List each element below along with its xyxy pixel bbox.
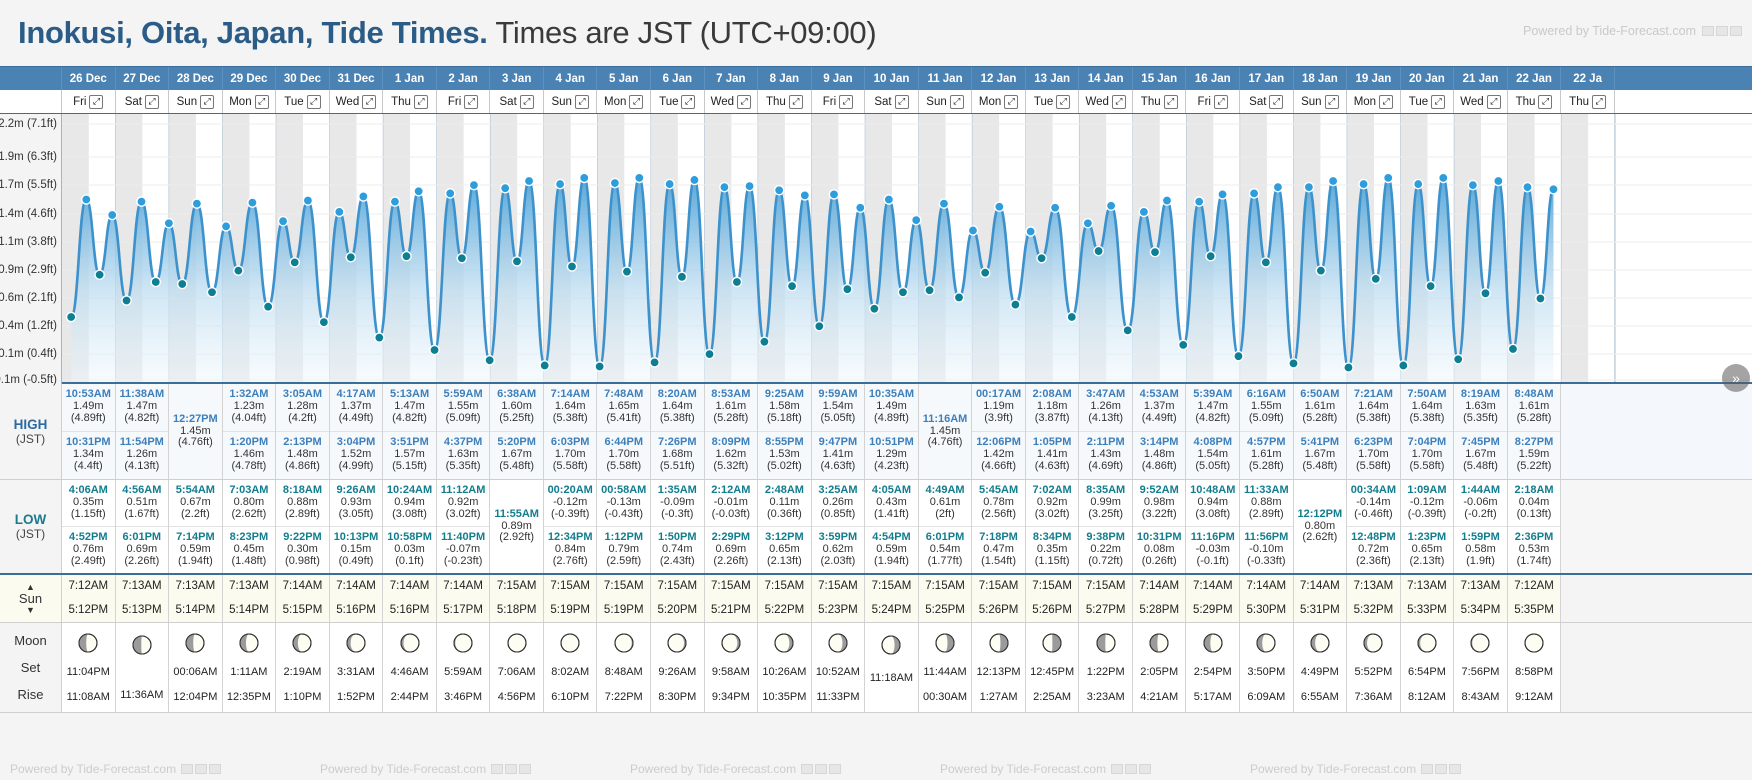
sunset-entry: 5:24PM [865, 599, 918, 623]
dow-label: Sun [177, 96, 197, 108]
date-header-cell[interactable]: 4 Jan [544, 67, 598, 90]
sun-cell[interactable]: 7:15AM5:24PM [865, 575, 919, 622]
expand-icon[interactable]: ⤢ [1325, 95, 1339, 109]
dow-header-cell[interactable]: Sat⤢ [490, 90, 544, 113]
dow-header-cell[interactable]: Sun⤢ [1294, 90, 1348, 113]
tide-height-ft: (1.67ft) [124, 509, 159, 521]
sun-cell[interactable]: 7:15AM5:23PM [812, 575, 866, 622]
sunset-entry: 5:14PM [169, 599, 222, 623]
date-header-cell[interactable]: 21 Jan [1454, 67, 1508, 90]
date-header-cell[interactable]: 6 Jan [651, 67, 705, 90]
tide-height-ft: (2.36ft) [1356, 556, 1391, 568]
dow-header-cell[interactable]: Tue⤢ [1026, 90, 1080, 113]
moon-phase-icon [1362, 632, 1384, 654]
expand-icon[interactable]: ⤢ [1269, 95, 1283, 109]
high-tide-entry: 7:48AM1.65m(5.41ft) [597, 384, 650, 432]
low-tide-cell[interactable]: 5:54AM0.67m(2.2ft)7:14PM0.59m(1.94ft) [169, 480, 223, 573]
sun-label: ▲ Sun ▼ [0, 575, 62, 622]
sun-cell[interactable]: 7:15AM5:27PM [1079, 575, 1133, 622]
low-tide-cell[interactable]: 9:52AM0.98m(3.22ft)10:31PM0.08m(0.26ft) [1133, 480, 1187, 573]
low-tide-cell[interactable]: 11:33AM0.88m(2.89ft)11:56PM-0.10m(-0.33f… [1240, 480, 1294, 573]
sun-cell[interactable]: 7:15AM5:26PM [972, 575, 1026, 622]
dow-header-cell[interactable]: Thu⤢ [1561, 90, 1615, 113]
sunset-entry: 5:13PM [116, 599, 169, 623]
low-tide-entry: 3:59PM0.62m(2.03ft) [812, 527, 865, 574]
sunrise-entry: 7:12AM [62, 575, 115, 599]
dow-header-cell[interactable]: Tue⤢ [1401, 90, 1455, 113]
dow-header-cell[interactable]: Thu⤢ [1508, 90, 1562, 113]
high-tide-entry: 4:37PM1.63m(5.35ft) [437, 432, 490, 480]
date-header-cell[interactable]: 22 Ja [1561, 67, 1615, 90]
moonrise-time: 4:56PM [498, 691, 536, 703]
low-tide-entry: 3:25AM0.26m(0.85ft) [812, 480, 865, 527]
moon-cell[interactable]: 10:26AM10:35PM [758, 623, 812, 712]
sun-cell[interactable]: 7:15AM5:22PM [758, 575, 812, 622]
tide-height-ft: (3.08ft) [1195, 509, 1230, 521]
sunset-entry: 5:19PM [544, 599, 597, 623]
moon-cell[interactable]: 8:58PM9:12AM [1508, 623, 1562, 712]
dow-header-cell[interactable]: Thu⤢ [1133, 90, 1187, 113]
low-tide-cell[interactable]: 1:35AM-0.09m(-0.3ft)1:50PM0.74m(2.43ft) [651, 480, 705, 573]
sun-cell[interactable]: 7:14AM5:31PM [1294, 575, 1348, 622]
date-header-cell[interactable]: 16 Jan [1186, 67, 1240, 90]
high-tide-cell[interactable]: 4:17AM1.37m(4.49ft)3:04PM1.52m(4.99ft) [330, 384, 384, 479]
dow-label: Thu [1141, 96, 1161, 108]
date-header-cell[interactable]: 30 Dec [276, 67, 330, 90]
high-tide-cell[interactable]: 9:25AM1.58m(5.18ft)8:55PM1.53m(5.02ft) [758, 384, 812, 479]
tide-height-ft: (3.08ft) [392, 509, 427, 521]
high-tide-cell[interactable]: 8:48AM1.61m(5.28ft)8:27PM1.59m(5.22ft) [1508, 384, 1562, 479]
sun-cell[interactable]: 7:15AM5:18PM [490, 575, 544, 622]
high-tide-cell[interactable]: 12:27PM1.45m(4.76ft) [169, 384, 223, 479]
sun-cell[interactable]: 7:14AM5:28PM [1133, 575, 1187, 622]
dow-header-cell[interactable]: Mon⤢ [597, 90, 651, 113]
date-header-cell[interactable]: 18 Jan [1294, 67, 1348, 90]
high-tide-cell[interactable]: 2:08AM1.18m(3.87ft)1:05PM1.41m(4.63ft) [1026, 384, 1080, 479]
low-tide-cell[interactable]: 10:24AM0.94m(3.08ft)10:58PM0.03m(0.1ft) [383, 480, 437, 573]
date-header-cell[interactable]: 29 Dec [223, 67, 277, 90]
high-tide-cell[interactable]: 8:20AM1.64m(5.38ft)7:26PM1.68m(5.51ft) [651, 384, 705, 479]
expand-icon[interactable]: ⤢ [520, 95, 534, 109]
low-tide-entry: 1:09AM-0.12m(-0.39ft) [1401, 480, 1454, 527]
dow-header-cell[interactable]: Fri⤢ [812, 90, 866, 113]
tide-height-ft: (1.94ft) [178, 556, 213, 568]
sunset-time: 5:21PM [711, 604, 751, 617]
tide-height-m: 0.45m [234, 544, 265, 556]
moonset-time: 2:54PM [1194, 666, 1232, 678]
date-header-cell[interactable]: 1 Jan [383, 67, 437, 90]
moon-cell[interactable]: 7:56PM8:43AM [1454, 623, 1508, 712]
sun-cell[interactable]: 7:12AM5:12PM [62, 575, 116, 622]
sunset-entry: 5:28PM [1133, 599, 1186, 623]
now-indicator-badge[interactable]: » [1722, 364, 1750, 392]
date-header-cell[interactable]: 19 Jan [1347, 67, 1401, 90]
tide-height-ft: (2.89ft) [285, 509, 320, 521]
high-tide-entry: 9:47PM1.41m(4.63ft) [812, 432, 865, 480]
sunrise-time: 7:13AM [229, 580, 269, 593]
moon-cell[interactable]: 1:22PM3:23AM [1079, 623, 1133, 712]
moonset-time: 3:50PM [1247, 666, 1285, 678]
high-tide-cell[interactable]: 4:53AM1.37m(4.49ft)3:14PM1.48m(4.86ft) [1133, 384, 1187, 479]
high-tide-cell[interactable]: 7:50AM1.64m(5.38ft)7:04PM1.70m(5.58ft) [1401, 384, 1455, 479]
low-tide-cell[interactable]: 11:55AM0.89m(2.92ft) [490, 480, 544, 573]
sunrise-entry: 7:15AM [705, 575, 758, 599]
moon-phase-icon [506, 632, 528, 654]
sunset-entry: 5:17PM [437, 599, 490, 623]
expand-icon[interactable]: ⤢ [575, 95, 589, 109]
moon-cell[interactable]: 7:06AM4:56PM [490, 623, 544, 712]
high-tide-cell[interactable]: 8:19AM1.63m(5.35ft)7:45PM1.67m(5.48ft) [1454, 384, 1508, 479]
sun-cell[interactable]: 7:13AM5:14PM [169, 575, 223, 622]
low-tide-cell[interactable]: 00:34AM-0.14m(-0.46ft)12:48PM0.72m(2.36f… [1347, 480, 1401, 573]
tide-height-ft: (2.89ft) [1249, 509, 1284, 521]
tide-height-ft: (0.85ft) [821, 509, 856, 521]
low-tide-entry: 12:48PM0.72m(2.36ft) [1347, 527, 1400, 574]
date-header-cell[interactable]: 26 Dec [62, 67, 116, 90]
moonrise-time: 00:30AM [923, 691, 967, 703]
dow-header-cell[interactable]: Sat⤢ [865, 90, 919, 113]
moon-cell[interactable]: 3:31AM1:52PM [330, 623, 384, 712]
low-tide-entry: 10:58PM0.03m(0.1ft) [383, 527, 436, 574]
dow-header-cell[interactable]: Mon⤢ [223, 90, 277, 113]
low-tide-cell[interactable]: 10:48AM0.94m(3.08ft)11:16PM-0.03m(-0.1ft… [1186, 480, 1240, 573]
moon-cell[interactable]: 3:50PM6:09AM [1240, 623, 1294, 712]
high-tide-cell[interactable]: 5:59AM1.55m(5.09ft)4:37PM1.63m(5.35ft) [437, 384, 491, 479]
dow-header-cell[interactable]: Mon⤢ [1347, 90, 1401, 113]
dow-header-cell[interactable]: Wed⤢ [330, 90, 384, 113]
expand-icon[interactable]: ⤢ [1112, 95, 1126, 109]
date-header-cell[interactable]: 14 Jan [1079, 67, 1133, 90]
sun-cell[interactable]: 7:14AM5:30PM [1240, 575, 1294, 622]
dow-header-cell[interactable]: Sun⤢ [169, 90, 223, 113]
date-header-corner [0, 67, 62, 90]
graph-y-axis: 2.2m (7.1ft)1.9m (6.3ft)1.7m (5.5ft)1.4m… [0, 114, 62, 384]
high-tide-entry: 10:51PM1.29m(4.23ft) [865, 432, 918, 480]
expand-icon[interactable]: ⤢ [1004, 95, 1018, 109]
moon-cell[interactable]: 00:06AM12:04PM [169, 623, 223, 712]
moonrise-time: 2:25AM [1033, 691, 1071, 703]
high-tide-cell[interactable]: 5:39AM1.47m(4.82ft)4:08PM1.54m(5.05ft) [1186, 384, 1240, 479]
date-header-cell[interactable]: 27 Dec [116, 67, 170, 90]
sunset-time: 5:19PM [550, 604, 590, 617]
sun-cell[interactable]: 7:14AM5:17PM [437, 575, 491, 622]
sunset-time: 5:18PM [497, 604, 537, 617]
high-tide-cell[interactable]: 10:35AM1.49m(4.89ft)10:51PM1.29m(4.23ft) [865, 384, 919, 479]
low-tide-cell[interactable]: 4:49AM0.61m(2ft)6:01PM0.54m(1.77ft) [919, 480, 973, 573]
moonrise-time: 6:10PM [551, 691, 589, 703]
tide-height-m: -0.03m [1196, 544, 1230, 556]
flag-icon [1702, 26, 1714, 36]
tide-height-m: 0.79m [608, 544, 639, 556]
sun-cell[interactable]: 7:15AM5:21PM [705, 575, 759, 622]
high-tide-cell[interactable]: 6:38AM1.60m(5.25ft)5:20PM1.67m(5.48ft) [490, 384, 544, 479]
sunrise-time: 7:13AM [1407, 580, 1447, 593]
high-tide-cell[interactable]: 11:38AM1.47m(4.82ft)11:54PM1.26m(4.13ft) [116, 384, 170, 479]
dow-header-cell[interactable]: Mon⤢ [972, 90, 1026, 113]
low-tide-cell[interactable]: 11:12AM0.92m(3.02ft)11:40PM-0.07m(-0.23f… [437, 480, 491, 573]
high-tide-cell[interactable]: 6:50AM1.61m(5.28ft)5:41PM1.67m(5.48ft) [1294, 384, 1348, 479]
dow-header-cell[interactable]: Wed⤢ [705, 90, 759, 113]
low-tide-cell[interactable]: 9:26AM0.93m(3.05ft)10:13PM0.15m(0.49ft) [330, 480, 384, 573]
sun-cell[interactable]: 7:12AM5:35PM [1508, 575, 1562, 622]
expand-icon[interactable]: ⤢ [1592, 95, 1606, 109]
moon-cell[interactable]: 4:49PM6:55AM [1294, 623, 1348, 712]
date-header-cell[interactable]: 2 Jan [437, 67, 491, 90]
high-tide-cell[interactable]: 6:16AM1.55m(5.09ft)4:57PM1.61m(5.28ft) [1240, 384, 1294, 479]
sun-cell[interactable]: 7:15AM5:26PM [1026, 575, 1080, 622]
moon-cell[interactable]: 8:02AM6:10PM [544, 623, 598, 712]
sun-cell[interactable]: 7:14AM5:15PM [276, 575, 330, 622]
sun-cell[interactable]: 7:13AM5:34PM [1454, 575, 1508, 622]
low-tide-cell[interactable]: 1:09AM-0.12m(-0.39ft)1:23PM0.65m(2.13ft) [1401, 480, 1455, 573]
high-tide-cell[interactable]: 00:17AM1.19m(3.9ft)12:06PM1.42m(4.66ft) [972, 384, 1026, 479]
tide-height-ft: (1.77ft) [928, 556, 963, 568]
sunset-time: 5:16PM [336, 604, 376, 617]
expand-icon[interactable]: ⤢ [307, 95, 321, 109]
low-tide-cell[interactable]: 3:25AM0.26m(0.85ft)3:59PM0.62m(2.03ft) [812, 480, 866, 573]
flag-icon [1449, 764, 1461, 774]
moon-cell[interactable]: 2:19AM1:10PM [276, 623, 330, 712]
low-tide-cell[interactable]: 00:58AM-0.13m(-0.43ft)1:12PM0.79m(2.59ft… [597, 480, 651, 573]
moon-cell[interactable]: 2:54PM5:17AM [1186, 623, 1240, 712]
high-tide-cell[interactable]: 7:14AM1.64m(5.38ft)6:03PM1.70m(5.58ft) [544, 384, 598, 479]
dow-label: Fri [448, 96, 461, 108]
sun-cell[interactable]: 7:15AM5:19PM [597, 575, 651, 622]
sun-cell[interactable]: 7:13AM5:13PM [116, 575, 170, 622]
moonrise-time: 5:17AM [1194, 691, 1232, 703]
expand-icon[interactable]: ⤢ [1487, 95, 1501, 109]
dow-header-cell[interactable]: Fri⤢ [1186, 90, 1240, 113]
sun-cell[interactable]: 7:15AM5:19PM [544, 575, 598, 622]
sunrise-entry: 7:13AM [169, 575, 222, 599]
tide-height-m: 0.72m [1358, 544, 1389, 556]
low-tide-cell[interactable]: 2:12AM-0.01m(-0.03ft)2:29PM0.69m(2.26ft) [705, 480, 759, 573]
tide-height-ft: (4.63ft) [821, 461, 856, 473]
high-tide-entry: 9:25AM1.58m(5.18ft) [758, 384, 811, 432]
low-tide-cell[interactable]: 5:45AM0.78m(2.56ft)7:18PM0.47m(1.54ft) [972, 480, 1026, 573]
sunrise-entry: 7:13AM [1347, 575, 1400, 599]
sun-cell[interactable]: 7:14AM5:29PM [1186, 575, 1240, 622]
expand-icon[interactable]: ⤢ [89, 95, 103, 109]
tide-height-ft: (5.28ft) [1302, 413, 1337, 425]
expand-icon[interactable]: ⤢ [681, 95, 695, 109]
dow-header-cell[interactable]: Sat⤢ [1240, 90, 1294, 113]
sun-cell[interactable]: 7:13AM5:33PM [1401, 575, 1455, 622]
date-header-cell[interactable]: 7 Jan [705, 67, 759, 90]
tide-height-ft: (3.02ft) [1035, 509, 1070, 521]
tide-height-ft: (4.4ft) [74, 461, 103, 473]
flag-icon [1421, 764, 1433, 774]
moon-cell[interactable]: 8:48AM7:22PM [597, 623, 651, 712]
low-tide-entry: 10:24AM0.94m(3.08ft) [383, 480, 436, 527]
tide-height-m: 0.76m [73, 544, 104, 556]
expand-icon[interactable]: ⤢ [1214, 95, 1228, 109]
moon-cell[interactable]: 2:05PM4:21AM [1133, 623, 1187, 712]
moonrise-time: 11:33PM [816, 691, 859, 703]
low-tide-cell[interactable]: 4:05AM0.43m(1.41ft)4:54PM0.59m(1.94ft) [865, 480, 919, 573]
moon-cell[interactable]: 4:46AM2:44PM [383, 623, 437, 712]
tide-height-m: 0.92m [448, 497, 479, 509]
moon-cell[interactable]: 11:44AM00:30AM [919, 623, 973, 712]
sunset-time: 5:14PM [176, 604, 216, 617]
expand-icon[interactable]: ⤢ [464, 95, 478, 109]
expand-icon[interactable]: ⤢ [1538, 95, 1552, 109]
dow-label: Tue [1409, 96, 1428, 108]
expand-icon[interactable]: ⤢ [895, 95, 909, 109]
date-header-cell[interactable]: 17 Jan [1240, 67, 1294, 90]
expand-icon[interactable]: ⤢ [255, 95, 269, 109]
date-header-cell[interactable]: 12 Jan [972, 67, 1026, 90]
high-tide-cell[interactable]: 1:32AM1.23m(4.04ft)1:20PM1.46m(4.78ft) [223, 384, 277, 479]
y-axis-tick-label: 2.2m (7.1ft) [0, 118, 57, 130]
expand-icon[interactable]: ⤢ [145, 95, 159, 109]
dow-header-cell[interactable]: Thu⤢ [758, 90, 812, 113]
moon-cell[interactable]: 12:45PM2:25AM [1026, 623, 1080, 712]
date-header-cell[interactable]: 22 Jan [1508, 67, 1562, 90]
date-header-cell[interactable]: 10 Jan [865, 67, 919, 90]
dow-label: Fri [73, 96, 86, 108]
high-tide-cell[interactable]: 3:47AM1.26m(4.13ft)2:11PM1.43m(4.69ft) [1079, 384, 1133, 479]
moon-cell[interactable]: 5:59AM3:46PM [437, 623, 491, 712]
tide-height-ft: (4.82ft) [392, 413, 427, 425]
high-tide-cell[interactable]: 9:59AM1.54m(5.05ft)9:47PM1.41m(4.63ft) [812, 384, 866, 479]
tide-height-m: 0.69m [716, 544, 747, 556]
moon-phase-icon [1469, 632, 1491, 654]
dow-header-cell[interactable]: Wed⤢ [1454, 90, 1508, 113]
expand-icon[interactable]: ⤢ [362, 95, 376, 109]
high-tide-cell[interactable]: 8:53AM1.61m(5.28ft)8:09PM1.62m(5.32ft) [705, 384, 759, 479]
low-tide-cell[interactable]: 12:12PM0.80m(2.62ft) [1294, 480, 1348, 573]
high-tide-cell[interactable]: 7:48AM1.65m(5.41ft)6:44PM1.70m(5.58ft) [597, 384, 651, 479]
sun-cell[interactable]: 7:14AM5:16PM [330, 575, 384, 622]
date-header-cell[interactable]: 8 Jan [758, 67, 812, 90]
dow-header-cell[interactable]: Wed⤢ [1079, 90, 1133, 113]
moon-cell[interactable]: 11:04PM11:08AM [62, 623, 116, 712]
date-header-cell[interactable]: 31 Dec [330, 67, 384, 90]
sunrise-time: 7:14AM [1300, 580, 1340, 593]
sunset-time: 5:29PM [1193, 604, 1233, 617]
moon-cell[interactable]: 11:18AM [865, 623, 919, 712]
dow-label: Mon [604, 96, 626, 108]
sun-cell[interactable]: 7:15AM5:20PM [651, 575, 705, 622]
expand-icon[interactable]: ⤢ [1379, 95, 1393, 109]
expand-icon[interactable]: ⤢ [200, 95, 214, 109]
sunrise-time: 7:15AM [1086, 580, 1126, 593]
sun-cell[interactable]: 7:14AM5:16PM [383, 575, 437, 622]
high-tide-cell[interactable]: 3:05AM1.28m(4.2ft)2:13PM1.48m(4.86ft) [276, 384, 330, 479]
low-tide-cell[interactable]: 7:02AM0.92m(3.02ft)8:34PM0.35m(1.15ft) [1026, 480, 1080, 573]
sun-row: ▲ Sun ▼ 7:12AM5:12PM7:13AM5:13PM7:13AM5:… [0, 575, 1752, 623]
tide-height-ft: (-0.03ft) [712, 509, 751, 521]
tide-height-ft: (3.05ft) [339, 509, 374, 521]
moon-cell[interactable]: 9:58AM9:34PM [705, 623, 759, 712]
moon-cell[interactable]: 12:13PM1:27AM [972, 623, 1026, 712]
moon-cell[interactable]: 6:54PM8:12AM [1401, 623, 1455, 712]
tide-height-m: -0.07m [446, 544, 480, 556]
dow-header-cell[interactable]: Sun⤢ [544, 90, 598, 113]
high-tide-cell[interactable]: 5:13AM1.47m(4.82ft)3:51PM1.57m(5.15ft) [383, 384, 437, 479]
low-tide-entry: 7:02AM0.92m(3.02ft) [1026, 480, 1079, 527]
date-header-cell[interactable]: 11 Jan [919, 67, 973, 90]
dow-header-cell[interactable]: Thu⤢ [383, 90, 437, 113]
expand-icon[interactable]: ⤢ [1164, 95, 1178, 109]
moon-cell[interactable]: 10:52AM11:33PM [812, 623, 866, 712]
moonrise-time: 6:09AM [1247, 691, 1285, 703]
graph-plot-area[interactable] [62, 114, 1752, 384]
dow-header-cell[interactable]: Tue⤢ [276, 90, 330, 113]
dow-header-cell[interactable]: Fri⤢ [62, 90, 116, 113]
expand-icon[interactable]: ⤢ [789, 95, 803, 109]
flag-icon [1730, 26, 1742, 36]
tide-height-ft: (2.13ft) [1410, 556, 1445, 568]
date-header-cell[interactable]: 28 Dec [169, 67, 223, 90]
low-tide-cell[interactable]: 2:18AM0.04m(0.13ft)2:36PM0.53m(1.74ft) [1508, 480, 1562, 573]
sun-cell[interactable]: 7:15AM5:25PM [919, 575, 973, 622]
low-tide-cell[interactable]: 1:44AM-0.06m(-0.2ft)1:59PM0.58m(1.9ft) [1454, 480, 1508, 573]
moonset-time: 9:58AM [712, 666, 750, 678]
low-tide-cell[interactable]: 7:03AM0.80m(2.62ft)8:23PM0.45m(1.48ft) [223, 480, 277, 573]
tide-height-ft: (2.43ft) [660, 556, 695, 568]
moonrise-time: 4:21AM [1140, 691, 1178, 703]
sunrise-time: 7:15AM [979, 580, 1019, 593]
high-tide-cell[interactable]: 7:21AM1.64m(5.38ft)6:23PM1.70m(5.58ft) [1347, 384, 1401, 479]
high-tide-cell[interactable]: 10:53AM1.49m(4.89ft)10:31PM1.34m(4.4ft) [62, 384, 116, 479]
sun-cell[interactable]: 7:13AM5:32PM [1347, 575, 1401, 622]
moon-cell[interactable]: 9:26AM8:30PM [651, 623, 705, 712]
date-header-cell[interactable]: 3 Jan [490, 67, 544, 90]
y-axis-tick-label: 0.9m (2.9ft) [0, 264, 57, 276]
expand-icon[interactable]: ⤢ [1431, 95, 1445, 109]
moon-phase-icon [720, 632, 742, 654]
date-header-cell[interactable]: 13 Jan [1026, 67, 1080, 90]
dow-header-cell[interactable]: Sat⤢ [116, 90, 170, 113]
date-header-cell[interactable]: 20 Jan [1401, 67, 1455, 90]
low-tide-cell[interactable]: 4:56AM0.51m(1.67ft)6:01PM0.69m(2.26ft) [116, 480, 170, 573]
expand-icon[interactable]: ⤢ [737, 95, 751, 109]
dow-header-cell[interactable]: Sun⤢ [919, 90, 973, 113]
low-tide-cell[interactable]: 2:48AM0.11m(0.36ft)3:12PM0.65m(2.13ft) [758, 480, 812, 573]
tide-height-ft: (2.59ft) [606, 556, 641, 568]
sun-cell[interactable]: 7:13AM5:14PM [223, 575, 277, 622]
moon-phase-icon [1523, 632, 1545, 654]
date-header-cell[interactable]: 5 Jan [597, 67, 651, 90]
low-tide-cell[interactable]: 4:06AM0.35m(1.15ft)4:52PM0.76m(2.49ft) [62, 480, 116, 573]
moon-cell[interactable]: 5:52PM7:36AM [1347, 623, 1401, 712]
moon-phase-icon [345, 632, 367, 654]
expand-icon[interactable]: ⤢ [839, 95, 853, 109]
sunset-entry: 5:23PM [812, 599, 865, 623]
moon-cell[interactable]: 1:11AM12:35PM [223, 623, 277, 712]
low-tide-entry: 00:34AM-0.14m(-0.46ft) [1347, 480, 1400, 527]
moonrise-label: Rise [17, 687, 43, 702]
low-tide-cell[interactable]: 00:20AM-0.12m(-0.39ft)12:34PM0.84m(2.76f… [544, 480, 598, 573]
expand-icon[interactable]: ⤢ [1056, 95, 1070, 109]
dow-header-cell[interactable]: Tue⤢ [651, 90, 705, 113]
dow-header-cell[interactable]: Fri⤢ [437, 90, 491, 113]
expand-icon[interactable]: ⤢ [629, 95, 643, 109]
low-tide-cell[interactable]: 8:35AM0.99m(3.25ft)9:38PM0.22m(0.72ft) [1079, 480, 1133, 573]
expand-icon[interactable]: ⤢ [414, 95, 428, 109]
low-tide-cell[interactable]: 8:18AM0.88m(2.89ft)9:22PM0.30m(0.98ft) [276, 480, 330, 573]
dow-label: Sun [1301, 96, 1321, 108]
high-tide-cell[interactable]: 11:16AM1.45m(4.76ft) [919, 384, 973, 479]
date-header-cell[interactable]: 9 Jan [812, 67, 866, 90]
moon-cell[interactable]: 11:36AM [116, 623, 170, 712]
expand-icon[interactable]: ⤢ [950, 95, 964, 109]
date-header-cell[interactable]: 15 Jan [1133, 67, 1187, 90]
high-tide-entry: 3:47AM1.26m(4.13ft) [1079, 384, 1132, 432]
low-tide-entry: 8:23PM0.45m(1.48ft) [223, 527, 276, 574]
